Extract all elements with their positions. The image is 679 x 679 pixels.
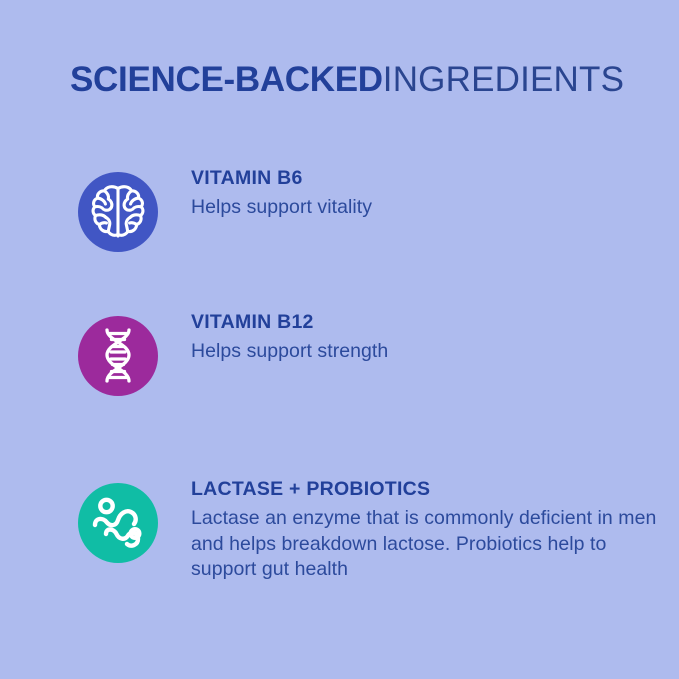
ingredient-description: Helps support strength (191, 339, 511, 365)
dna-helix-icon (78, 316, 158, 396)
page-title-strong: SCIENCE-BACKED (70, 60, 383, 99)
ingredient-item-lactase-probiotics: LACTASE + PROBIOTICS Lactase an enzyme t… (0, 479, 679, 599)
ingredient-title: VITAMIN B12 (191, 312, 511, 334)
ingredient-text-vitamin-b6: VITAMIN B6 Helps support vitality (191, 168, 511, 221)
ingredient-title: LACTASE + PROBIOTICS (191, 479, 659, 501)
ingredient-item-vitamin-b6: VITAMIN B6 Helps support vitality (0, 168, 679, 288)
science-backed-ingredients-panel: SCIENCE-BACKEDINGREDIENTS (0, 0, 679, 679)
ingredient-description: Helps support vitality (191, 195, 511, 221)
ingredient-description: Lactase an enzyme that is commonly defic… (191, 506, 659, 583)
brain-icon (78, 172, 158, 252)
page-title: SCIENCE-BACKEDINGREDIENTS (70, 62, 624, 97)
ingredient-text-vitamin-b12: VITAMIN B12 Helps support strength (191, 312, 511, 365)
ingredient-item-vitamin-b12: VITAMIN B12 Helps support strength (0, 312, 679, 432)
ingredient-text-lactase-probiotics: LACTASE + PROBIOTICS Lactase an enzyme t… (191, 479, 659, 583)
page-title-light: INGREDIENTS (383, 60, 624, 99)
ingredient-title: VITAMIN B6 (191, 168, 511, 190)
probiotics-bacteria-icon (78, 483, 158, 563)
